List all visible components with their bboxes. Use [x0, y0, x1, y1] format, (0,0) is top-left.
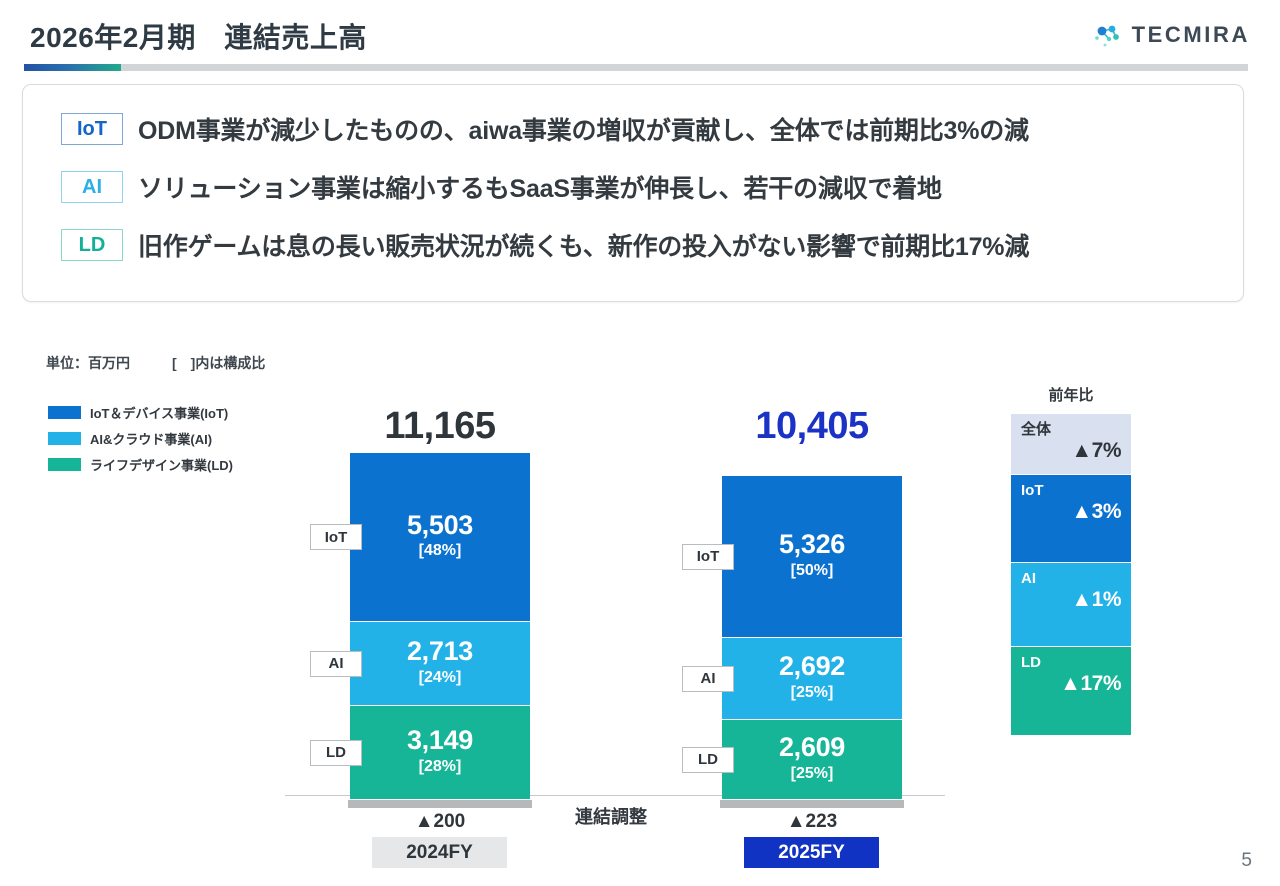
segment-tag-ld-2025fy: LD	[682, 747, 734, 773]
stack-segment-ld-2024fy[interactable]: LD 3,149 [28%]	[350, 706, 530, 799]
segment-tag-iot-2024fy: IoT	[310, 524, 362, 550]
segment-tag-ai-2024fy: AI	[310, 651, 362, 677]
adjustment-caption: 連結調整	[575, 803, 647, 829]
segment-value-ai-2025fy: 2,692	[779, 652, 845, 680]
stack-segment-iot-2025fy[interactable]: IoT 5,326 [50%]	[722, 476, 902, 638]
stack-bars-2025fy: IoT 5,326 [50%] AI 2,692 [25%] LD 2,609 …	[722, 476, 902, 799]
legend-item-ld: ライフデザイン事業(LD)	[48, 455, 233, 474]
segment-value-iot-2025fy: 5,326	[779, 530, 845, 558]
segment-badge-iot: IoT	[61, 113, 123, 145]
summary-row-ai: AI ソリューション事業は縮小するもSaaS事業が伸長し、若干の減収で着地	[61, 169, 942, 205]
page-title: 2026年2月期 連結売上高	[30, 16, 367, 56]
yoy-label-iot: IoT	[1021, 482, 1121, 499]
legend-label-ld: ライフデザイン事業(LD)	[90, 455, 233, 474]
title-accent-bar	[24, 64, 1248, 71]
fy-chip-2025fy[interactable]: 2025FY	[744, 837, 879, 868]
unit-note: 単位：百万円 [ ]内は構成比	[46, 353, 265, 373]
stack-segment-ld-2025fy[interactable]: LD 2,609 [25%]	[722, 720, 902, 799]
segment-value-ld-2025fy: 2,609	[779, 733, 845, 761]
fy-chip-2024fy[interactable]: 2024FY	[372, 837, 507, 868]
adjustment-value-2025fy: ▲223	[722, 811, 902, 833]
summary-text-ld: 旧作ゲームは息の長い販売状況が続くも、新作の投入がない影響で前期比17%減	[138, 227, 1029, 263]
yoy-row-ai[interactable]: AI ▲1%	[1011, 563, 1131, 647]
summary-text-ai: ソリューション事業は縮小するもSaaS事業が伸長し、若干の減収で着地	[138, 169, 942, 205]
segment-value-ai-2024fy: 2,713	[407, 637, 473, 665]
segment-tag-ld-2024fy: LD	[310, 740, 362, 766]
adjustment-bar-2024fy	[348, 800, 532, 808]
yoy-row-iot[interactable]: IoT ▲3%	[1011, 475, 1131, 563]
segment-value-iot-2024fy: 5,503	[407, 511, 473, 539]
stack-segment-ai-2025fy[interactable]: AI 2,692 [25%]	[722, 638, 902, 720]
yoy-row-total[interactable]: 全体 ▲7%	[1011, 414, 1131, 475]
legend-item-iot: IoT＆デバイス事業(IoT)	[48, 403, 233, 422]
legend-swatch-iot	[48, 406, 81, 419]
segment-badge-ai: AI	[61, 171, 123, 203]
legend-swatch-ld	[48, 458, 81, 471]
adjustment-value-2024fy: ▲200	[350, 811, 530, 833]
legend-item-ai: AI&クラウド事業(AI)	[48, 429, 233, 448]
yoy-value-total: ▲7%	[1021, 438, 1121, 463]
segment-share-ai-2024fy: [24%]	[419, 666, 462, 690]
column-total-2025fy: 10,405	[722, 405, 902, 448]
molecule-logo-icon	[1093, 20, 1123, 50]
column-total-2024fy: 11,165	[350, 405, 530, 448]
segment-badge-ld: LD	[61, 229, 123, 261]
title-accent-fill	[24, 64, 121, 71]
yoy-label-total: 全体	[1021, 421, 1121, 438]
yoy-value-ai: ▲1%	[1021, 587, 1121, 612]
summary-panel: IoT ODM事業が減少したものの、aiwa事業の増収が貢献し、全体では前期比3…	[22, 84, 1244, 302]
summary-row-iot: IoT ODM事業が減少したものの、aiwa事業の増収が貢献し、全体では前期比3…	[61, 111, 1029, 147]
stack-segment-iot-2024fy[interactable]: IoT 5,503 [48%]	[350, 453, 530, 622]
yoy-value-iot: ▲3%	[1021, 499, 1121, 524]
stack-bars-2024fy: IoT 5,503 [48%] AI 2,713 [24%] LD 3,149 …	[350, 453, 530, 799]
brand-logo: TECMIRA	[1093, 20, 1250, 50]
segment-value-ld-2024fy: 3,149	[407, 726, 473, 754]
legend-swatch-ai	[48, 432, 81, 445]
legend-label-ai: AI&クラウド事業(AI)	[90, 429, 212, 448]
yoy-value-ld: ▲17%	[1021, 671, 1121, 696]
segment-share-iot-2024fy: [48%]	[419, 539, 462, 563]
segment-tag-ai-2025fy: AI	[682, 666, 734, 692]
adjustment-bar-2025fy	[720, 800, 904, 808]
summary-row-ld: LD 旧作ゲームは息の長い販売状況が続くも、新作の投入がない影響で前期比17%減	[61, 227, 1029, 263]
yoy-panel: 前年比 全体 ▲7% IoT ▲3% AI ▲1% LD ▲17%	[1011, 384, 1131, 735]
segment-share-ld-2025fy: [25%]	[791, 762, 834, 786]
yoy-row-ld[interactable]: LD ▲17%	[1011, 647, 1131, 735]
yoy-panel-title: 前年比	[1011, 384, 1131, 405]
segment-share-ld-2024fy: [28%]	[419, 755, 462, 779]
brand-name: TECMIRA	[1132, 22, 1250, 48]
segment-tag-iot-2025fy: IoT	[682, 544, 734, 570]
yoy-label-ai: AI	[1021, 570, 1121, 587]
stack-segment-ai-2024fy[interactable]: AI 2,713 [24%]	[350, 622, 530, 706]
segment-share-iot-2025fy: [50%]	[791, 559, 834, 583]
segment-share-ai-2025fy: [25%]	[791, 681, 834, 705]
summary-text-iot: ODM事業が減少したものの、aiwa事業の増収が貢献し、全体では前期比3%の減	[138, 111, 1029, 147]
page-number: 5	[1241, 850, 1252, 872]
chart-legend: IoT＆デバイス事業(IoT) AI&クラウド事業(AI) ライフデザイン事業(…	[48, 403, 233, 481]
legend-label-iot: IoT＆デバイス事業(IoT)	[90, 403, 228, 422]
yoy-label-ld: LD	[1021, 654, 1121, 671]
